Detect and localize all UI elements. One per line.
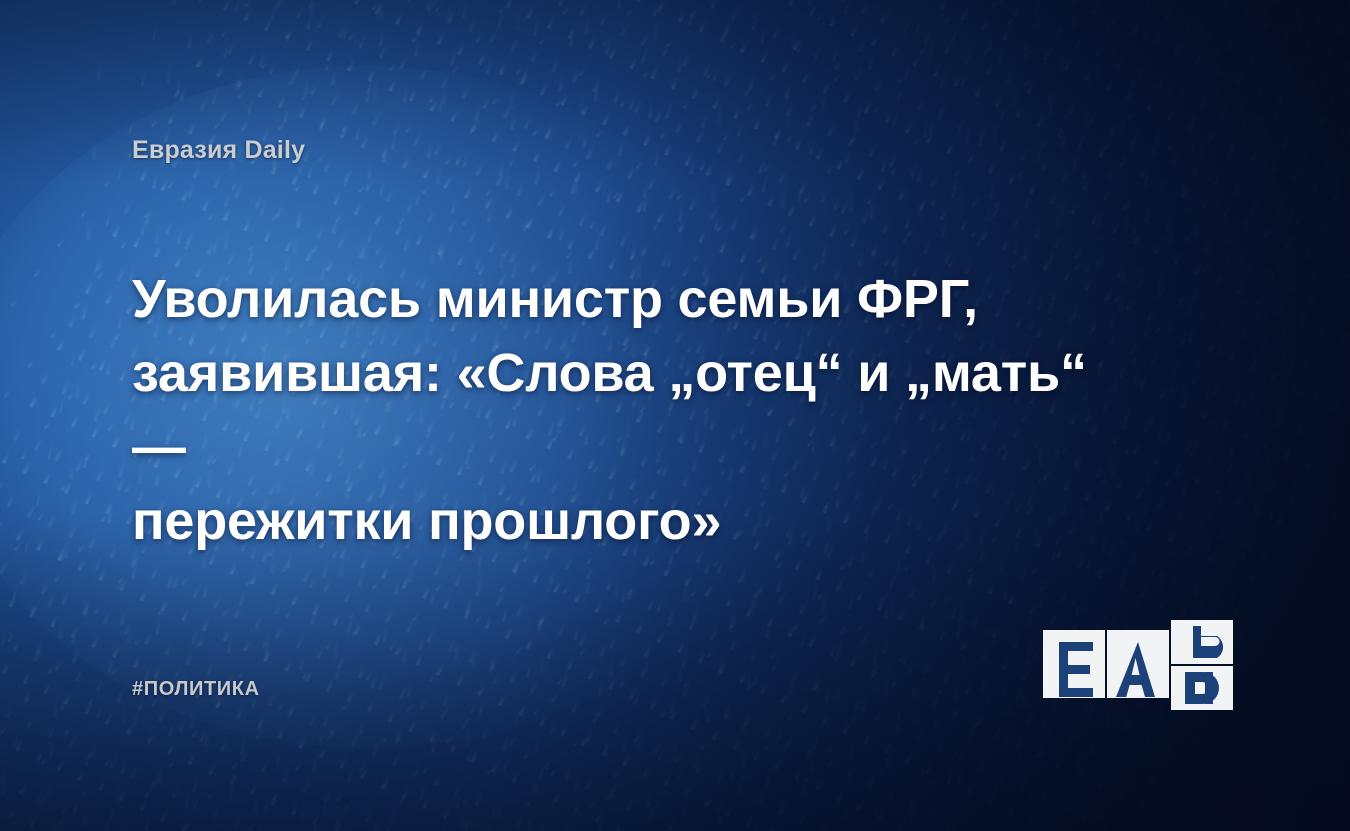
headline-line-3: пережитки прошлого»: [132, 491, 721, 551]
headline-line-2: заявившая: «Слова „отец“ и „мать“ —: [132, 343, 1087, 477]
ead-brand-logo: [1043, 618, 1233, 710]
logo-square-e: [1043, 630, 1105, 698]
social-share-card: Евразия Daily Уволилась министр семьи ФР…: [0, 0, 1350, 831]
card-content: Евразия Daily Уволилась министр семьи ФР…: [0, 0, 1350, 831]
logo-square-d: [1171, 620, 1233, 710]
logo-square-a: [1107, 630, 1169, 698]
headline-line-1: Уволилась министр семьи ФРГ,: [132, 269, 978, 329]
category-hashtag: #ПОЛИТИКА: [132, 678, 260, 701]
site-name-wordmark: Евразия Daily: [132, 136, 305, 165]
article-headline: Уволилась министр семьи ФРГ, заявившая: …: [132, 262, 1142, 558]
